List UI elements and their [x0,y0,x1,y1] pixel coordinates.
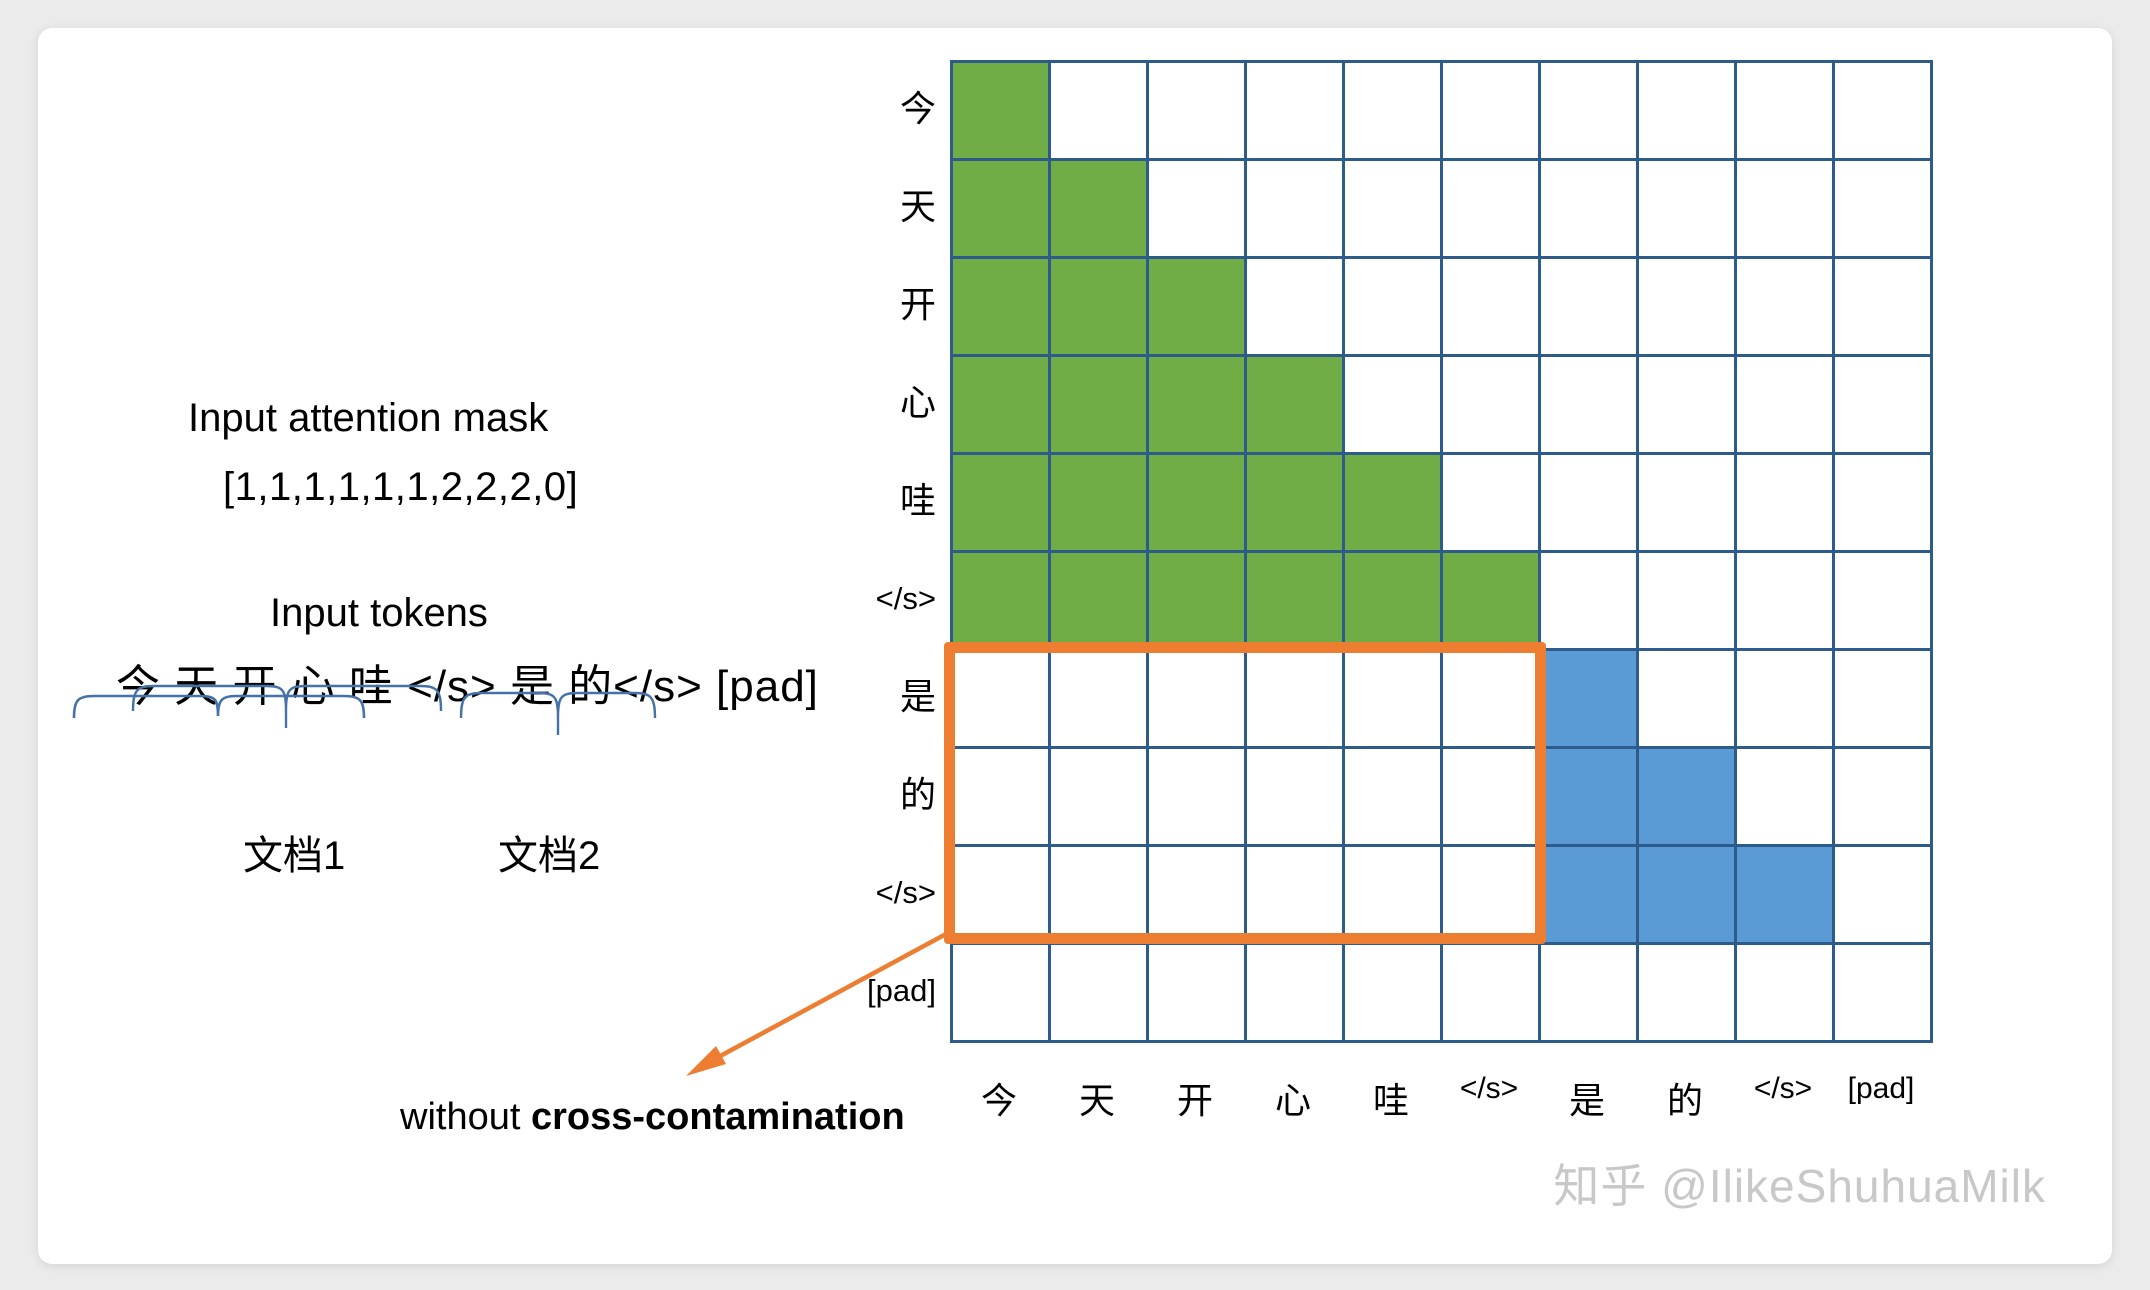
matrix-column-label: 心 [1244,1072,1342,1124]
matrix-row [953,161,1933,259]
matrix-column-label: </s> [1440,1072,1538,1124]
matrix-cell[interactable] [1443,357,1541,455]
annotation-without-cross-contamination: without cross-contamination [400,1096,905,1139]
matrix-cell[interactable] [1835,945,1933,1043]
matrix-cell[interactable] [1443,553,1541,651]
matrix-cell[interactable] [1345,553,1443,651]
document-1-label: 文档1 [243,823,345,881]
matrix-cell[interactable] [1541,63,1639,161]
matrix-cell[interactable] [1345,455,1443,553]
matrix-cell[interactable] [1639,259,1737,357]
matrix-cell[interactable] [1149,357,1247,455]
matrix-cell[interactable] [1541,553,1639,651]
matrix-cell[interactable] [1443,945,1541,1043]
matrix-cell[interactable] [953,455,1051,553]
matrix-cell[interactable] [953,357,1051,455]
matrix-cell[interactable] [953,945,1051,1043]
matrix-cell[interactable] [1149,63,1247,161]
matrix-column-label: 是 [1538,1072,1636,1124]
matrix-row-label: [pad] [830,942,942,1040]
matrix-row [953,63,1933,161]
matrix-cell[interactable] [1345,259,1443,357]
input-tokens-title: Input tokens [270,591,488,636]
matrix-cell[interactable] [1737,63,1835,161]
matrix-cell[interactable] [1051,259,1149,357]
matrix-row-label: </s> [830,844,942,942]
matrix-cell[interactable] [1835,847,1933,945]
matrix-cell[interactable] [1149,553,1247,651]
matrix-cell[interactable] [1541,749,1639,847]
matrix-row [953,357,1933,455]
matrix-cell[interactable] [1443,259,1541,357]
matrix-cell[interactable] [1737,553,1835,651]
matrix-cell[interactable] [1737,455,1835,553]
matrix-column-label: [pad] [1832,1072,1930,1124]
matrix-cell[interactable] [1345,945,1443,1043]
cross-contamination-highlight-box [944,642,1546,944]
matrix-cell[interactable] [1737,651,1835,749]
matrix-column-label: 今 [950,1072,1048,1124]
attention-mask-matrix: 今天开心哇</s>是的</s>[pad] 今天开心哇</s>是的</s>[pad… [950,60,1933,1043]
matrix-cell[interactable] [1541,651,1639,749]
document-2-label: 文档2 [498,823,600,881]
matrix-column-label: 哇 [1342,1072,1440,1124]
matrix-cell[interactable] [1149,945,1247,1043]
matrix-cell[interactable] [1345,161,1443,259]
matrix-cell[interactable] [1051,161,1149,259]
matrix-cell[interactable] [1639,847,1737,945]
matrix-row-labels: 今天开心哇</s>是的</s>[pad] [830,60,942,1040]
matrix-cell[interactable] [1835,651,1933,749]
matrix-row-label: 哇 [830,452,942,550]
matrix-cell[interactable] [1247,455,1345,553]
matrix-cell[interactable] [1835,553,1933,651]
matrix-cell[interactable] [1247,259,1345,357]
matrix-cell[interactable] [1737,161,1835,259]
annotation-emphasis: cross-contamination [531,1096,905,1138]
annotation-prefix: without [400,1096,531,1138]
matrix-cell[interactable] [1247,553,1345,651]
input-attention-mask-title: Input attention mask [188,396,548,441]
matrix-cell[interactable] [1835,63,1933,161]
matrix-row [953,553,1933,651]
matrix-cell[interactable] [1835,357,1933,455]
matrix-row [953,945,1933,1043]
matrix-cell[interactable] [953,161,1051,259]
matrix-row-label: 心 [830,354,942,452]
matrix-cell[interactable] [1541,161,1639,259]
matrix-cell[interactable] [1639,63,1737,161]
input-tokens-sequence: 今 天 开 心 哇 </s> 是 的</s> [pad] [116,650,819,714]
matrix-cell[interactable] [1443,455,1541,553]
matrix-row-label: 的 [830,746,942,844]
matrix-cell[interactable] [953,259,1051,357]
matrix-cell[interactable] [1835,259,1933,357]
matrix-cell[interactable] [1149,455,1247,553]
matrix-cell[interactable] [1737,749,1835,847]
matrix-cell[interactable] [1051,945,1149,1043]
matrix-cell[interactable] [1737,847,1835,945]
watermark: 知乎 @IlikeShuhuaMilk [1553,1150,2046,1216]
matrix-cell[interactable] [1051,455,1149,553]
matrix-cell[interactable] [1149,259,1247,357]
matrix-cell[interactable] [1051,357,1149,455]
matrix-cell[interactable] [1345,357,1443,455]
matrix-cell[interactable] [1541,259,1639,357]
matrix-column-label: 的 [1636,1072,1734,1124]
matrix-cell[interactable] [1051,553,1149,651]
matrix-cell[interactable] [1639,651,1737,749]
matrix-column-label: 开 [1146,1072,1244,1124]
matrix-cell[interactable] [1639,945,1737,1043]
matrix-cell[interactable] [1247,945,1345,1043]
matrix-row [953,455,1933,553]
input-attention-mask-values: [1,1,1,1,1,1,2,2,2,0] [223,465,578,510]
matrix-cell[interactable] [1247,357,1345,455]
matrix-cell[interactable] [953,553,1051,651]
matrix-cell[interactable] [1835,749,1933,847]
matrix-cell[interactable] [1737,259,1835,357]
matrix-cell[interactable] [1737,357,1835,455]
matrix-row-label: 天 [830,158,942,256]
matrix-cell[interactable] [1541,945,1639,1043]
matrix-cell[interactable] [1345,63,1443,161]
matrix-cell[interactable] [1639,553,1737,651]
matrix-cell[interactable] [1737,945,1835,1043]
matrix-row-label: 是 [830,648,942,746]
matrix-cell[interactable] [1051,63,1149,161]
matrix-cell[interactable] [1443,161,1541,259]
matrix-cell[interactable] [953,63,1051,161]
matrix-cell[interactable] [1639,357,1737,455]
matrix-column-label: </s> [1734,1072,1832,1124]
matrix-column-label: 天 [1048,1072,1146,1124]
matrix-cell[interactable] [1247,63,1345,161]
matrix-cell[interactable] [1639,161,1737,259]
matrix-cell[interactable] [1149,161,1247,259]
callout-arrow-head [686,1046,726,1076]
matrix-cell[interactable] [1541,357,1639,455]
matrix-row-label: </s> [830,550,942,648]
matrix-row-label: 开 [830,256,942,354]
matrix-row-label: 今 [830,60,942,158]
matrix-cell[interactable] [1541,455,1639,553]
matrix-cell[interactable] [1835,455,1933,553]
matrix-cell[interactable] [1835,161,1933,259]
matrix-column-labels: 今天开心哇</s>是的</s>[pad] [950,1072,1936,1124]
diagram-card: Input attention mask [1,1,1,1,1,1,2,2,2,… [38,28,2112,1264]
matrix-cell[interactable] [1247,161,1345,259]
matrix-row [953,259,1933,357]
matrix-cell[interactable] [1443,63,1541,161]
matrix-cell[interactable] [1541,847,1639,945]
matrix-cell[interactable] [1639,455,1737,553]
matrix-cell[interactable] [1639,749,1737,847]
